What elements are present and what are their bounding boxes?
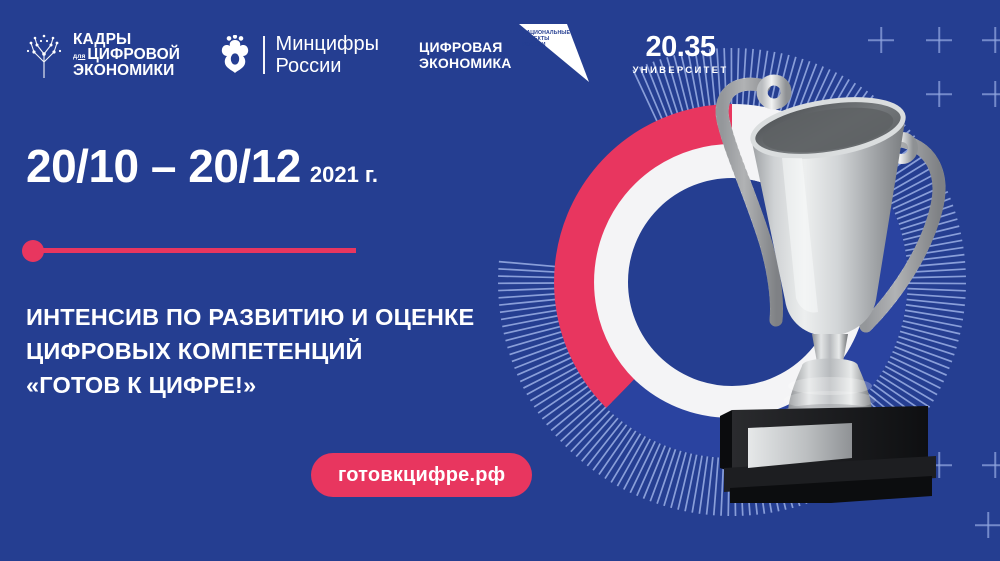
- logo-cifeco-line2: ЭКОНОМИКА: [419, 55, 512, 71]
- date-range: 20/10 – 20/12: [26, 141, 301, 191]
- headline-line-1: ИНТЕНСИВ ПО РАЗВИТИЮ И ОЦЕНКЕ: [26, 300, 474, 334]
- logo-mincifry-line2: России: [276, 55, 379, 77]
- logo-kadry-wordmark: КАДРЫ для ЦИФРОВОЙ ЭКОНОМИКИ: [73, 32, 180, 79]
- burst-ray: [644, 439, 668, 498]
- plus-mark: [975, 512, 1000, 538]
- burst-ray: [599, 422, 635, 475]
- plus-mark: [982, 27, 1000, 53]
- logo-2035-label: УНИВЕРСИТЕТ: [633, 65, 729, 77]
- logo-divider: [263, 36, 265, 74]
- accent-rule: [26, 248, 356, 253]
- event-dates: 20/10 – 20/12 2021 г.: [26, 141, 378, 191]
- logo-kadry-line3: ЭКОНОМИКИ: [73, 63, 180, 79]
- logo-mincifry-line1: Минцифры: [276, 33, 379, 55]
- national-projects-pennant-icon: НАЦИОНАЛЬНЫЕ ПРОЕКТЫ РОССИИ: [519, 24, 591, 86]
- logo-cifeco-flag-text: НАЦИОНАЛЬНЫЕ ПРОЕКТЫ РОССИИ: [523, 30, 570, 49]
- plus-mark: [982, 81, 1000, 107]
- trophy-stem: [782, 334, 878, 420]
- logo-kadry-dlya-cifrovoy-ekonomiki: КАДРЫ для ЦИФРОВОЙ ЭКОНОМИКИ: [24, 32, 180, 79]
- partner-logo-bar: КАДРЫ для ЦИФРОВОЙ ЭКОНОМИКИ: [24, 24, 728, 86]
- logo-cifeco-wordmark: ЦИФРОВАЯ ЭКОНОМИКА: [419, 39, 512, 71]
- headline-line-2: ЦИФРОВЫХ КОМПЕТЕНЦИЙ: [26, 334, 474, 368]
- logo-2035-number: 20.35: [645, 33, 715, 62]
- burst-ray: [593, 419, 631, 471]
- logo-mincifry-wordmark: Минцифры России: [276, 33, 379, 77]
- page-title: ИНТЕНСИВ ПО РАЗВИТИЮ И ОЦЕНКЕ ЦИФРОВЫХ К…: [26, 300, 474, 402]
- logo-cifrovaya-ekonomika: ЦИФРОВАЯ ЭКОНОМИКА НАЦИОНАЛЬНЫЕ ПРОЕКТЫ …: [419, 24, 591, 86]
- flag-line3: РОССИИ: [523, 42, 570, 48]
- accent-rule-dot: [22, 240, 44, 262]
- date-year: 2021 г.: [310, 163, 378, 187]
- logo-kadry-line2: ЦИФРОВОЙ: [87, 47, 180, 63]
- trophy-cup-illustration: [690, 48, 955, 503]
- digital-tree-icon: [24, 32, 64, 78]
- headline-line-3: «ГОТОВ К ЦИФРЕ!»: [26, 368, 474, 402]
- website-cta-button[interactable]: готовкцифре.рф: [311, 453, 532, 497]
- logo-mincifry-rossii: Минцифры России: [218, 33, 379, 77]
- logo-university-2035: 20.35 УНИВЕРСИТЕТ: [633, 33, 729, 77]
- plus-mark: [982, 452, 1000, 478]
- promo-banner: КАДРЫ для ЦИФРОВОЙ ЭКОНОМИКИ: [0, 0, 1000, 561]
- trophy-plinth: [720, 406, 936, 503]
- logo-cifeco-line1: ЦИФРОВАЯ: [419, 39, 512, 55]
- russian-double-eagle-icon: [218, 35, 252, 75]
